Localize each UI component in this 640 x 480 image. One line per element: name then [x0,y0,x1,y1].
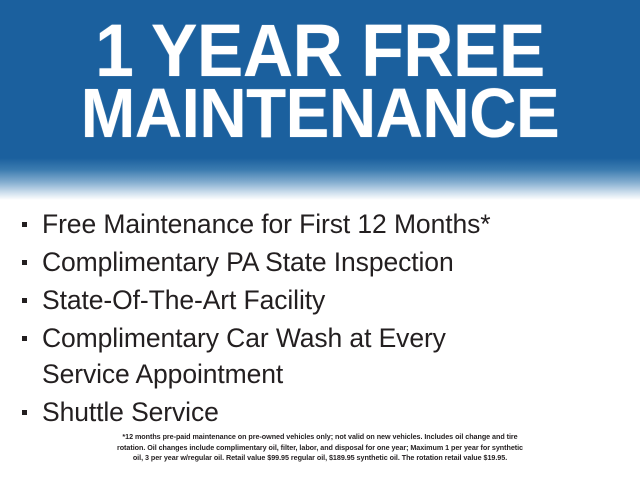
headline: 1 YEAR FREE MAINTENANCE [0,0,640,145]
banner-gradient-fade [0,158,640,200]
banner-header: 1 YEAR FREE MAINTENANCE [0,0,640,200]
benefits-list: Free Maintenance for First 12 Months* Co… [22,206,622,432]
square-bullet-icon [22,320,42,341]
square-bullet-icon [22,394,42,415]
list-item: Free Maintenance for First 12 Months* [22,206,622,242]
list-item-label: State-Of-The-Art Facility [42,282,622,318]
list-item: State-Of-The-Art Facility [22,282,622,318]
fineprint-line-2: rotation. Oil changes include compliment… [30,443,610,454]
list-item-label: Free Maintenance for First 12 Months* [42,206,622,242]
list-item: Shuttle Service [22,394,622,430]
fineprint-line-3: oil, 3 per year w/regular oil. Retail va… [30,453,610,464]
square-bullet-icon [22,244,42,265]
list-item-label: Complimentary Car Wash at Every Service … [42,320,622,392]
fineprint-disclaimer: *12 months pre-paid maintenance on pre-o… [30,432,610,464]
headline-line-2: MAINTENANCE [21,81,619,145]
headline-line-1: 1 YEAR FREE [19,0,621,85]
square-bullet-icon [22,282,42,303]
list-item: Complimentary Car Wash at Every Service … [22,320,622,392]
list-item-label: Complimentary PA State Inspection [42,244,622,280]
list-item-label: Shuttle Service [42,394,622,430]
square-bullet-icon [22,206,42,227]
fineprint-line-1: *12 months pre-paid maintenance on pre-o… [30,432,610,443]
maintenance-offer-ad: 1 YEAR FREE MAINTENANCE Free Maintenance… [0,0,640,480]
list-item: Complimentary PA State Inspection [22,244,622,280]
